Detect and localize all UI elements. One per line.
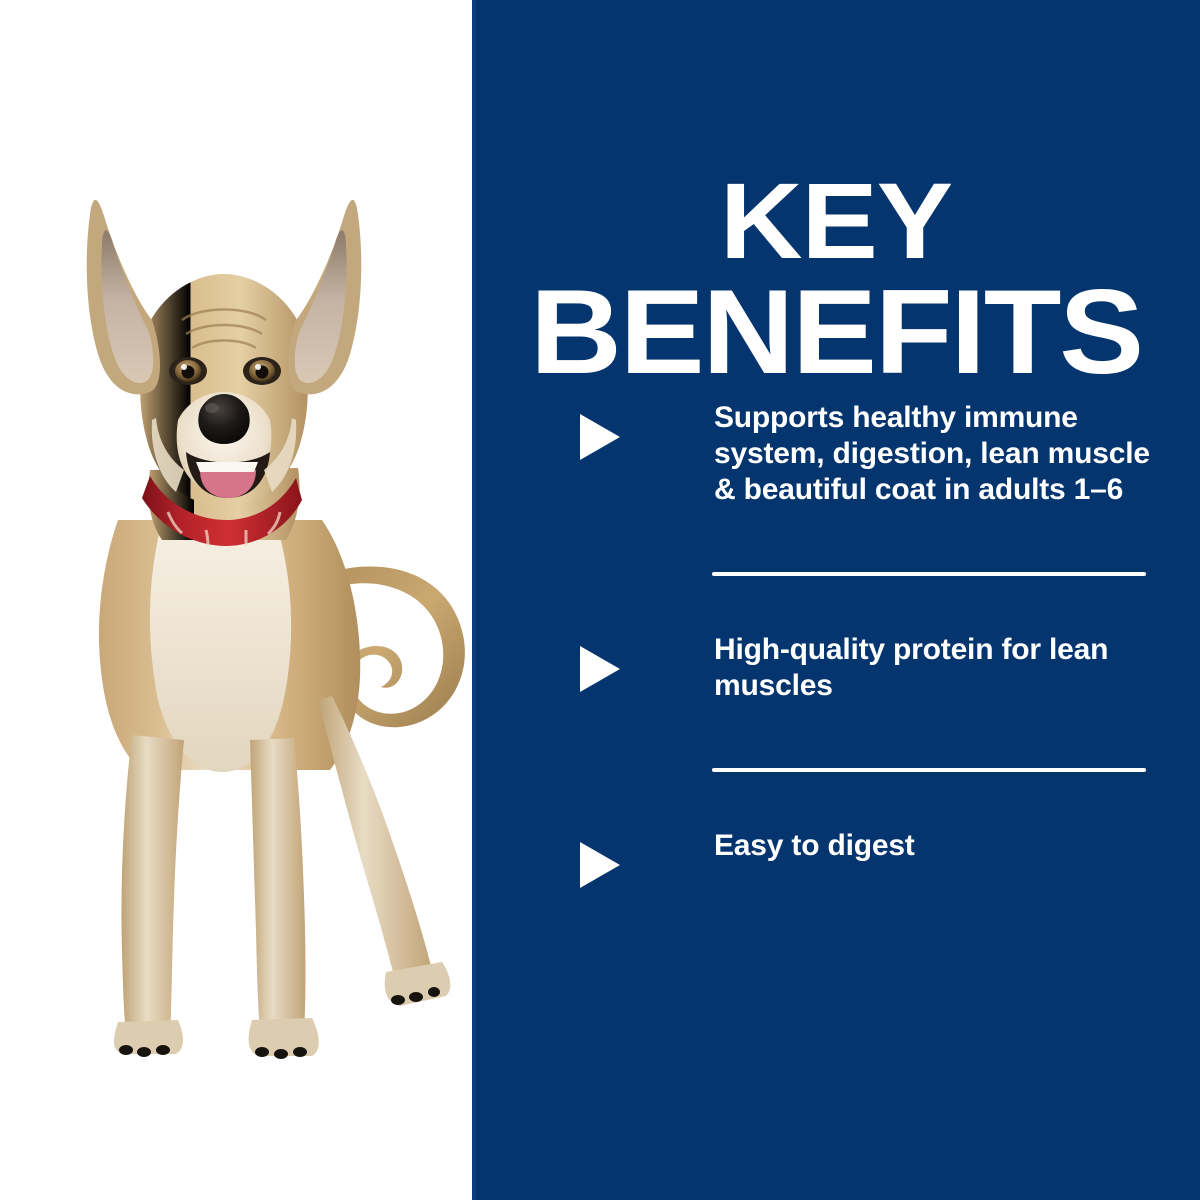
- benefit-item-2-text: High-quality protein for lean muscles: [714, 632, 1154, 704]
- triangle-right-icon: [580, 414, 620, 460]
- dog-photograph: [0, 0, 472, 1200]
- dog-eye-right: [243, 357, 281, 385]
- benefit-item-3: Easy to digest: [472, 828, 1200, 888]
- dog-nose-highlight: [205, 403, 219, 413]
- triangle-right-icon: [580, 646, 620, 692]
- benefit-item-1-text: Supports healthy immune system, digestio…: [714, 400, 1154, 508]
- benefit-item-2: High-quality protein for lean muscles: [472, 632, 1200, 704]
- page-title-line-2: BENEFITS: [450, 274, 1200, 392]
- panel-left-edge: [472, 0, 476, 1200]
- dog-teeth: [196, 462, 258, 472]
- dog-front-right-leg: [250, 738, 306, 1032]
- dog-photo-panel: [0, 0, 472, 1200]
- dog-eye-left: [169, 357, 207, 385]
- key-benefits-banner: KEY BENEFITS Supports healthy immune sys…: [0, 0, 1200, 1200]
- page-title-line-1: KEY: [450, 168, 1200, 274]
- benefits-panel: KEY BENEFITS Supports healthy immune sys…: [472, 0, 1200, 1200]
- benefit-item-1: Supports healthy immune system, digestio…: [472, 400, 1200, 508]
- triangle-right-icon: [580, 842, 620, 888]
- benefit-item-3-text: Easy to digest: [714, 828, 915, 864]
- page-title: KEY BENEFITS: [450, 168, 1200, 391]
- benefits-list: Supports healthy immune system, digestio…: [472, 400, 1200, 888]
